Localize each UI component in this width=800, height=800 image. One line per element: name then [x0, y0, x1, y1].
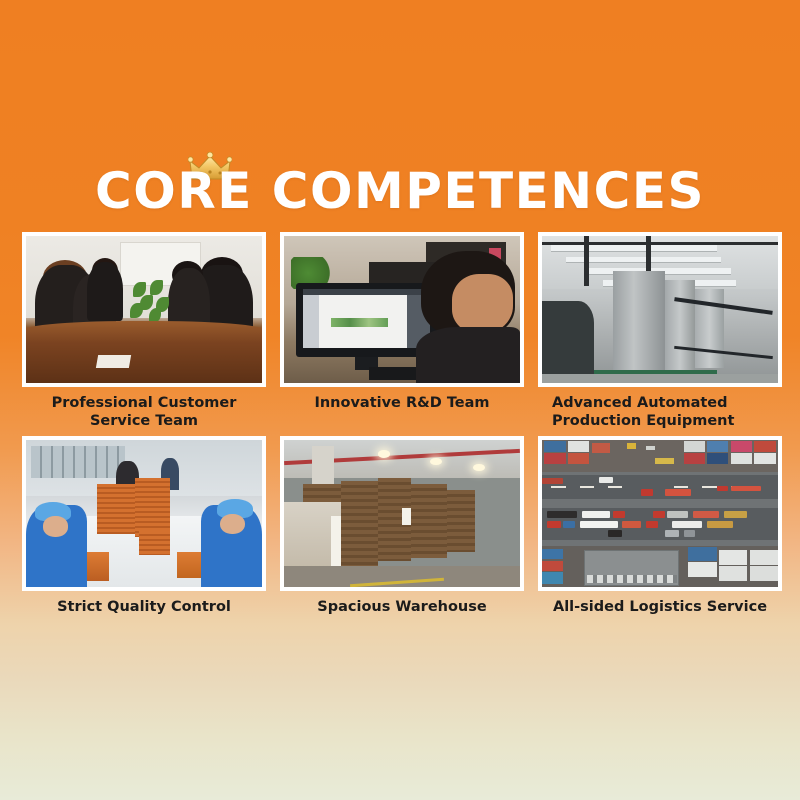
card-caption: Professional Customer Service Team: [22, 387, 266, 430]
card-caption: Strict Quality Control: [22, 591, 266, 616]
competence-grid: Professional Customer Service Team Innov…: [22, 232, 780, 616]
photo-frame: [538, 436, 782, 591]
photo-frame: [22, 232, 266, 387]
card-caption: Innovative R&D Team: [280, 387, 524, 412]
meeting-room-photo: [26, 236, 262, 383]
card-professional-customer-service-team[interactable]: Professional Customer Service Team: [22, 232, 266, 430]
photo-frame: [280, 232, 524, 387]
core-competences-banner: CORE COMPETENCES: [0, 0, 800, 800]
card-innovative-rd-team[interactable]: Innovative R&D Team: [280, 232, 524, 430]
page-title: CORE COMPETENCES: [95, 164, 705, 218]
card-caption: All-sided Logistics Service: [538, 591, 782, 616]
card-advanced-automated-production-equipment[interactable]: Advanced Automated Production Equipment: [538, 232, 782, 430]
photo-frame: [22, 436, 266, 591]
quality-control-workers-photo: [26, 440, 262, 587]
printing-press-photo: [542, 236, 778, 383]
card-caption: Spacious Warehouse: [280, 591, 524, 616]
aerial-container-port-photo: [542, 440, 778, 587]
photo-frame: [538, 232, 782, 387]
designer-at-monitor-photo: [284, 236, 520, 383]
card-all-sided-logistics-service[interactable]: All-sided Logistics Service: [538, 436, 782, 616]
photo-frame: [280, 436, 524, 591]
caption-line-1: Advanced Automated: [552, 395, 728, 411]
warehouse-pallets-photo: [284, 440, 520, 587]
title-block: CORE COMPETENCES: [0, 152, 800, 218]
caption-line-2: Service Team: [90, 413, 198, 429]
caption-line-2: Production Equipment: [552, 413, 734, 429]
card-strict-quality-control[interactable]: Strict Quality Control: [22, 436, 266, 616]
card-caption: Advanced Automated Production Equipment: [538, 387, 782, 430]
caption-line-1: Professional Customer: [52, 395, 237, 411]
card-spacious-warehouse[interactable]: Spacious Warehouse: [280, 436, 524, 616]
